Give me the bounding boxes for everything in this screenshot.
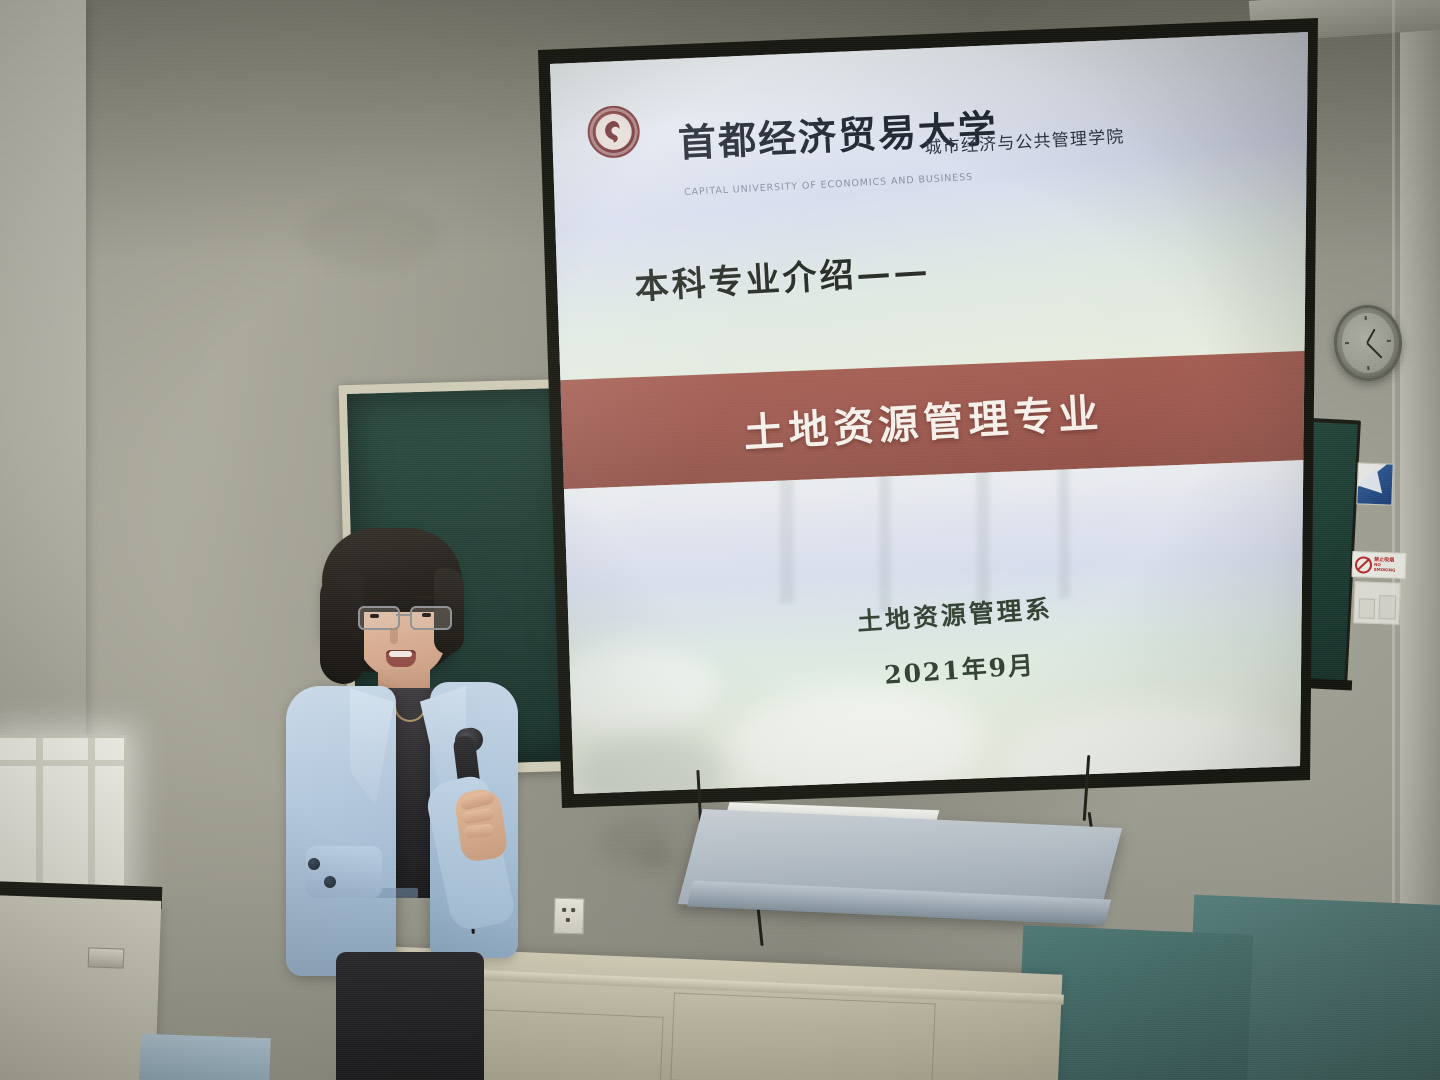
presenter-eyebrow	[414, 596, 434, 599]
presenter-eye-right	[422, 613, 431, 617]
outlet-slot	[571, 908, 575, 912]
glasses-lens-left	[358, 606, 400, 630]
watermark-pillar	[878, 463, 891, 613]
glasses-bridge	[396, 614, 410, 616]
presentation-slide: 首都经济贸易大学 CAPITAL UNIVERSITY OF ECONOMICS…	[520, 18, 1320, 808]
no-smoking-label-en: NO SMOKING	[1374, 563, 1403, 573]
wall-stain	[640, 846, 680, 876]
outlet-slot	[562, 908, 566, 912]
glasses-lens-right	[410, 606, 452, 630]
wall-notice-sheet	[1353, 581, 1400, 625]
clock-tick	[1387, 340, 1391, 342]
classroom-photo-scene: 禁止吸烟 NO SMOKING	[0, 0, 1440, 1080]
wall-stain	[300, 200, 440, 270]
clock-hour-hand	[1366, 329, 1376, 344]
clock-face	[1340, 312, 1395, 375]
presenter-sleeve-cuff	[306, 846, 382, 898]
watermark-pillar	[976, 459, 990, 612]
clock-tick	[1365, 316, 1367, 320]
projection-screen-surface: 首都经济贸易大学 CAPITAL UNIVERSITY OF ECONOMICS…	[520, 18, 1320, 808]
slide-background-top	[520, 18, 1320, 386]
no-smoking-icon	[1355, 556, 1373, 574]
window-mullion	[0, 760, 124, 766]
notice-box	[1378, 595, 1396, 620]
presenter-eyebrow	[364, 598, 384, 601]
left-cabinet	[0, 895, 161, 1080]
notice-box	[1358, 598, 1375, 619]
jacket-button	[324, 876, 336, 888]
watermark-pillar	[1058, 459, 1070, 599]
no-smoking-slash	[1357, 557, 1371, 570]
wall-poster-blue	[1356, 462, 1393, 505]
presenter-eye-left	[370, 614, 379, 618]
watermark-pillar	[780, 473, 795, 603]
university-emblem	[587, 105, 641, 159]
clock-tick	[1367, 366, 1369, 370]
clock-tick	[1345, 342, 1349, 344]
watermark-foliage	[1000, 701, 1304, 808]
left-wall-panel	[0, 0, 86, 760]
presenter	[262, 528, 562, 1080]
no-smoking-sign: 禁止吸烟 NO SMOKING	[1352, 551, 1407, 579]
clock-minute-hand	[1366, 342, 1382, 358]
presenter-skirt	[336, 952, 484, 1080]
cabinet-handle	[88, 947, 125, 968]
emblem-figure-icon	[601, 119, 626, 146]
projection-screen-assembly: 首都经济贸易大学 CAPITAL UNIVERSITY OF ECONOMICS…	[520, 18, 1330, 818]
outlet-slot	[566, 918, 570, 922]
poster-triangle-graphic	[1357, 464, 1389, 493]
presenter-hair-side-left	[320, 572, 364, 684]
presenter-nose	[390, 628, 398, 644]
desk-door-panel	[670, 993, 935, 1080]
jacket-button	[308, 858, 320, 870]
presenter-teeth	[389, 651, 412, 657]
blue-panel	[139, 1034, 271, 1080]
